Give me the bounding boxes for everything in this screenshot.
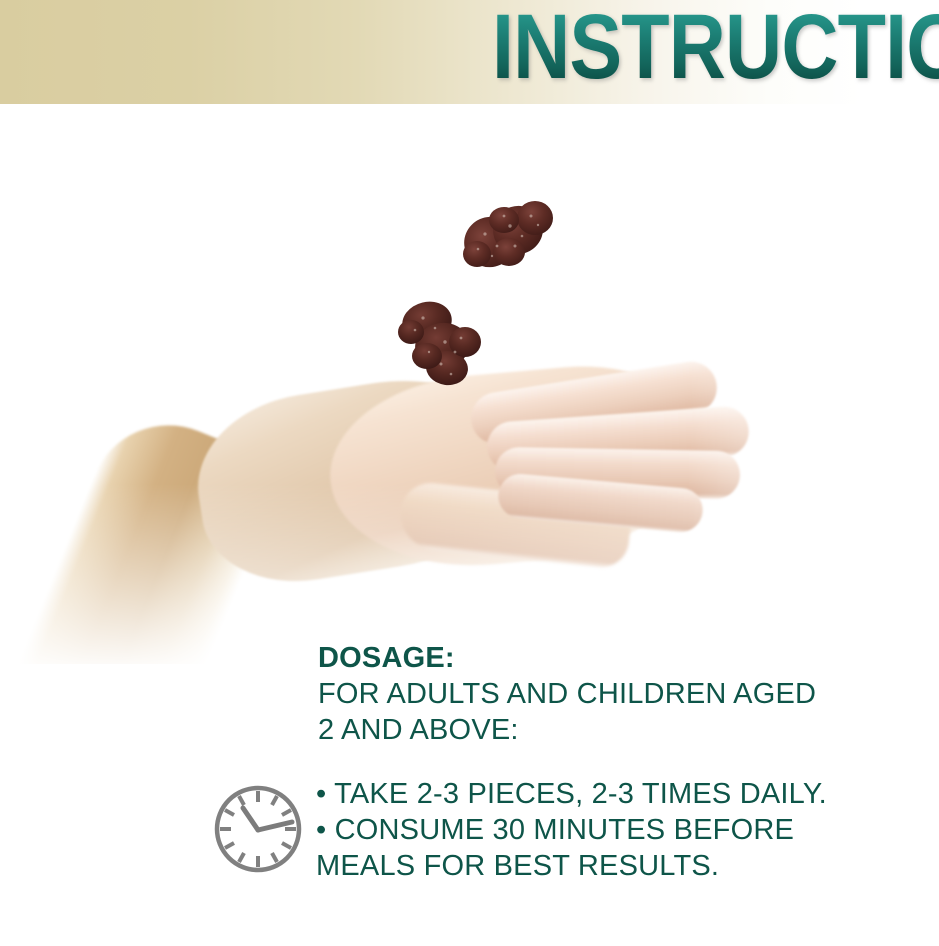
page-title: INSTRUCTION [492,0,939,97]
product-photo [0,104,939,664]
dosage-line-1: FOR ADULTS AND CHILDREN AGED [318,676,918,712]
instructions-block: • TAKE 2-3 PIECES, 2-3 TIMES DAILY. • CO… [316,776,936,884]
instruction-panel: INSTRUCTION [0,0,939,946]
photo-fade-right [690,104,939,664]
gummy-bear-upper [452,190,562,280]
instruction-bullet-2: • CONSUME 30 MINUTES BEFORE [316,812,936,848]
dosage-line-2: 2 AND ABOVE: [318,712,918,748]
instruction-bullet-2-continued: MEALS FOR BEST RESULTS. [316,848,936,884]
dosage-heading: DOSAGE: [318,640,918,676]
instruction-bullet-1: • TAKE 2-3 PIECES, 2-3 TIMES DAILY. [316,776,936,812]
dosage-block: DOSAGE: FOR ADULTS AND CHILDREN AGED 2 A… [318,640,918,748]
gummy-bear-lower [397,294,497,386]
clock-icon [212,783,304,875]
